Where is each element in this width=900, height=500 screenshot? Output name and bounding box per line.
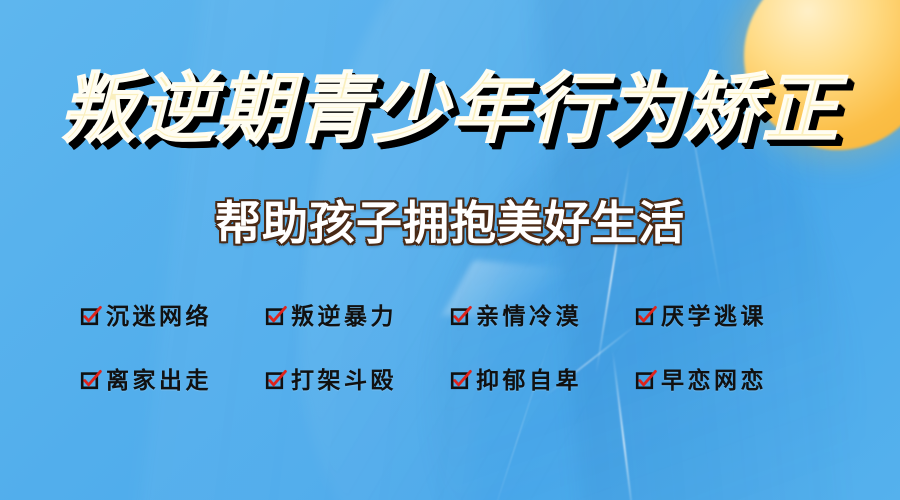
- issue-tag[interactable]: 亲情冷漠: [450, 296, 635, 336]
- checkbox-checked-icon: [80, 369, 102, 391]
- issue-tag-label: 早恋网恋: [661, 369, 767, 392]
- issue-tag-grid: 沉迷网络叛逆暴力亲情冷漠厌学逃课离家出走打架斗殴抑郁自卑早恋网恋: [80, 296, 820, 400]
- issue-tag[interactable]: 沉迷网络: [80, 296, 265, 336]
- banner-subtitle: 帮助孩子拥抱美好生活: [0, 200, 900, 246]
- checkbox-checked-icon: [450, 305, 472, 327]
- issue-tag[interactable]: 叛逆暴力: [265, 296, 450, 336]
- issue-tag-label: 叛逆暴力: [291, 305, 397, 328]
- checkbox-checked-icon: [265, 369, 287, 391]
- issue-tag-label: 沉迷网络: [106, 305, 212, 328]
- issue-tag-label: 厌学逃课: [661, 305, 767, 328]
- issue-tag[interactable]: 抑郁自卑: [450, 360, 635, 400]
- checkbox-checked-icon: [635, 305, 657, 327]
- banner-title: 叛逆期青少年行为矫正: [0, 72, 900, 148]
- checkbox-checked-icon: [635, 369, 657, 391]
- checkbox-checked-icon: [80, 305, 102, 327]
- issue-tag[interactable]: 打架斗殴: [265, 360, 450, 400]
- issue-tag-label: 离家出走: [106, 369, 212, 392]
- promo-banner: 叛逆期青少年行为矫正 帮助孩子拥抱美好生活 沉迷网络叛逆暴力亲情冷漠厌学逃课离家…: [0, 0, 900, 500]
- issue-tag-label: 抑郁自卑: [476, 369, 582, 392]
- issue-tag-label: 亲情冷漠: [476, 305, 582, 328]
- issue-tag[interactable]: 离家出走: [80, 360, 265, 400]
- checkbox-checked-icon: [265, 305, 287, 327]
- issue-tag[interactable]: 厌学逃课: [635, 296, 820, 336]
- banner-content: 叛逆期青少年行为矫正 帮助孩子拥抱美好生活 沉迷网络叛逆暴力亲情冷漠厌学逃课离家…: [0, 0, 900, 500]
- issue-tag[interactable]: 早恋网恋: [635, 360, 820, 400]
- issue-tag-label: 打架斗殴: [291, 369, 397, 392]
- checkbox-checked-icon: [450, 369, 472, 391]
